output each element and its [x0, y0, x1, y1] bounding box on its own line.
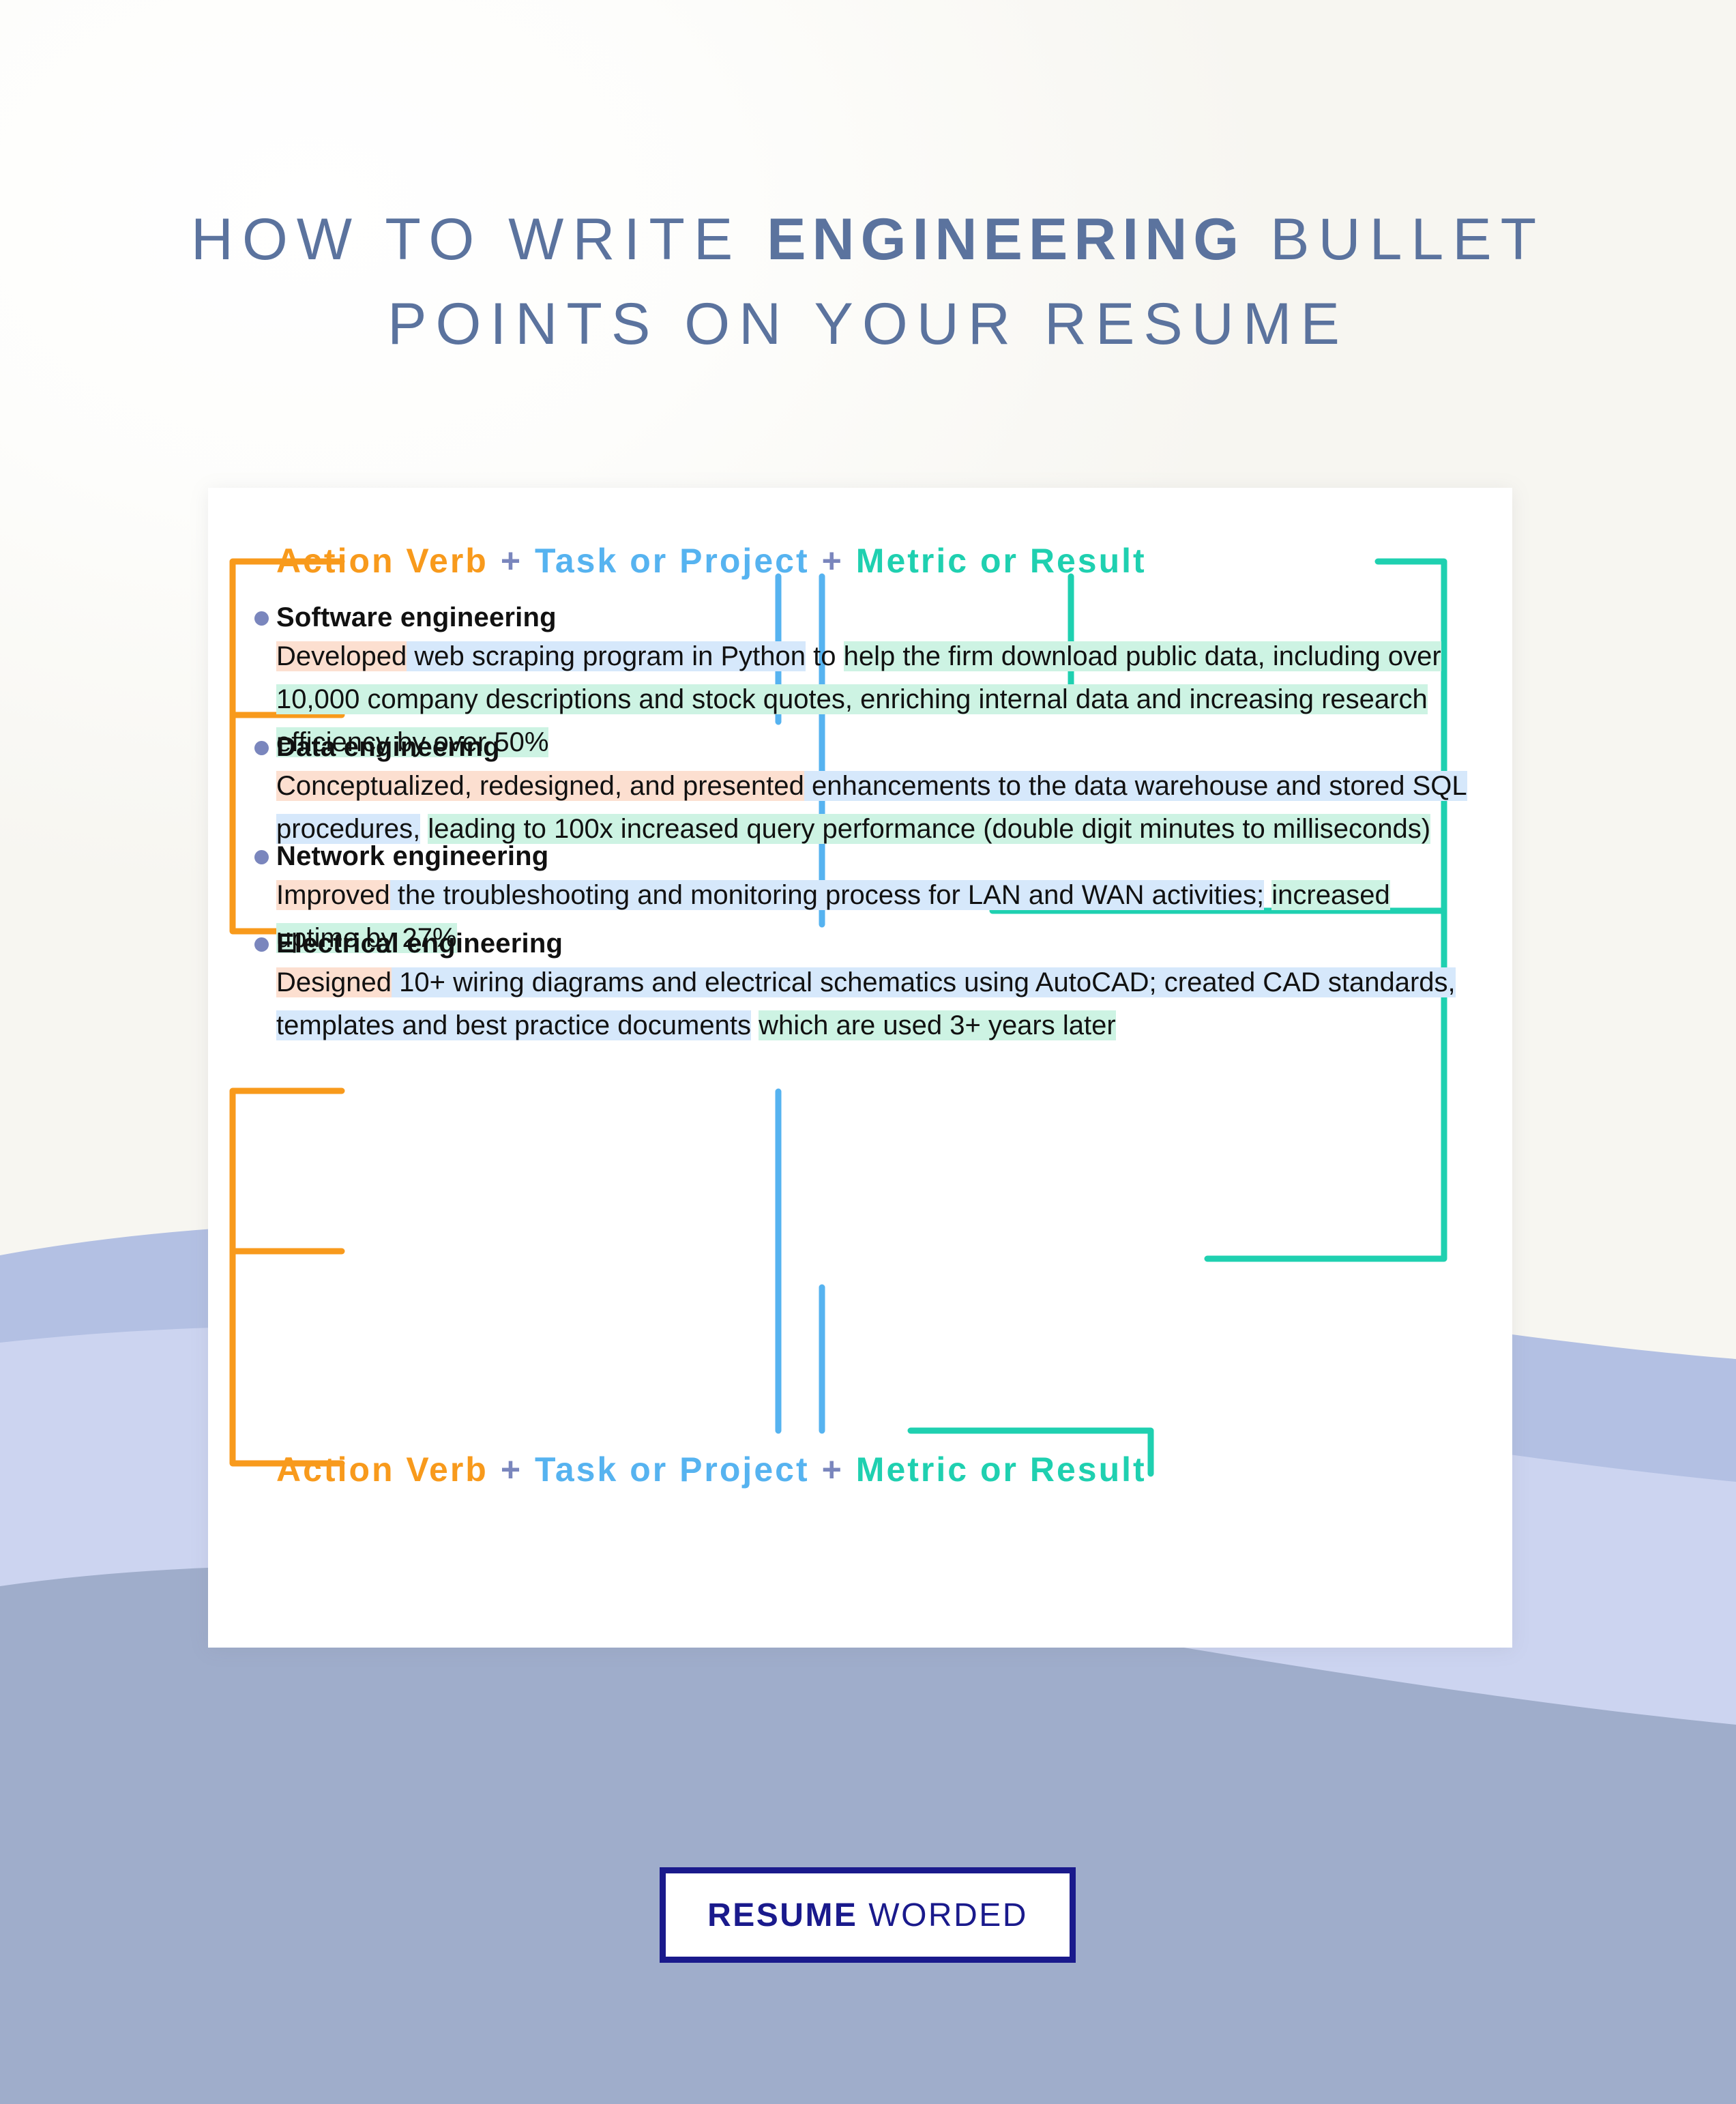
page-title: HOW TO WRITE ENGINEERING BULLET POINTS O…: [0, 151, 1736, 412]
legend-plus-2: +: [810, 542, 856, 580]
legend-plus-1: +: [488, 1450, 535, 1489]
group-body: Designed 10+ wiring diagrams and electri…: [276, 961, 1477, 1047]
highlight-metric-result: leading to 100x increased query performa…: [428, 814, 1430, 844]
legend-metric-result: Metric or Result: [856, 542, 1147, 580]
group-body: Conceptualized, redesigned, and presente…: [276, 765, 1477, 851]
group-heading-label: Network engineering: [276, 841, 548, 871]
body-gap-text: [420, 814, 428, 844]
title-line1-part3: BULLET: [1245, 207, 1545, 272]
bullet-dot-icon: [254, 937, 269, 952]
group-heading-label: Data engineering: [276, 732, 500, 762]
legend-plus-2: +: [810, 1450, 856, 1489]
bullet-dot-icon: [254, 741, 269, 755]
resume-worded-logo[interactable]: RESUME WORDED: [660, 1867, 1076, 1963]
group-heading-label: Electrical engineering: [276, 929, 563, 959]
body-gap-text: [1264, 880, 1271, 910]
legend-top: Action Verb+Task or Project+Metric or Re…: [276, 541, 1470, 581]
orange-bracket-bottom: [233, 1091, 342, 1463]
highlight-metric-result: which are used 3+ years later: [759, 1010, 1116, 1040]
body-gap-text: [751, 1010, 759, 1040]
legend-task-project: Task or Project: [535, 542, 810, 580]
group-heading: Data engineering: [276, 732, 1477, 762]
highlight-action-verb: Designed: [276, 967, 392, 997]
title-line2: POINTS ON YOUR RESUME: [0, 295, 1736, 353]
bullet-group-electrical-engineering: Electrical engineering Designed 10+ wiri…: [276, 929, 1477, 1047]
group-heading: Electrical engineering: [276, 929, 1477, 959]
logo-text-bold: RESUME: [707, 1897, 857, 1933]
logo-text: RESUME WORDED: [707, 1897, 1028, 1934]
group-heading: Software engineering: [276, 602, 1477, 632]
highlight-action-verb: Conceptualized, redesigned, and presente…: [276, 771, 804, 801]
highlight-task-project: web scraping program in Python: [407, 641, 806, 671]
title-line1-part1: HOW TO WRITE: [191, 207, 767, 272]
bullet-group-data-engineering: Data engineering Conceptualized, redesig…: [276, 732, 1477, 851]
legend-task-project: Task or Project: [535, 1450, 810, 1489]
highlight-action-verb: Developed: [276, 641, 407, 671]
bullet-dot-icon: [254, 850, 269, 864]
legend-action-verb: Action Verb: [276, 542, 488, 580]
group-heading-label: Software engineering: [276, 602, 557, 632]
bullet-dot-icon: [254, 611, 269, 626]
highlight-action-verb: Improved: [276, 880, 390, 910]
group-heading: Network engineering: [276, 841, 1477, 871]
legend-action-verb: Action Verb: [276, 1450, 488, 1489]
legend-bottom: Action Verb+Task or Project+Metric or Re…: [276, 1450, 1470, 1489]
body-gap-text: to: [806, 641, 844, 671]
legend-metric-result: Metric or Result: [856, 1450, 1147, 1489]
highlight-task-project: the troubleshooting and monitoring proce…: [390, 880, 1264, 910]
title-line1-emphasis: ENGINEERING: [767, 207, 1245, 272]
logo-text-regular: WORDED: [857, 1897, 1027, 1933]
legend-plus-1: +: [488, 542, 535, 580]
resume-bullet-card: Action Verb+Task or Project+Metric or Re…: [208, 488, 1512, 1648]
